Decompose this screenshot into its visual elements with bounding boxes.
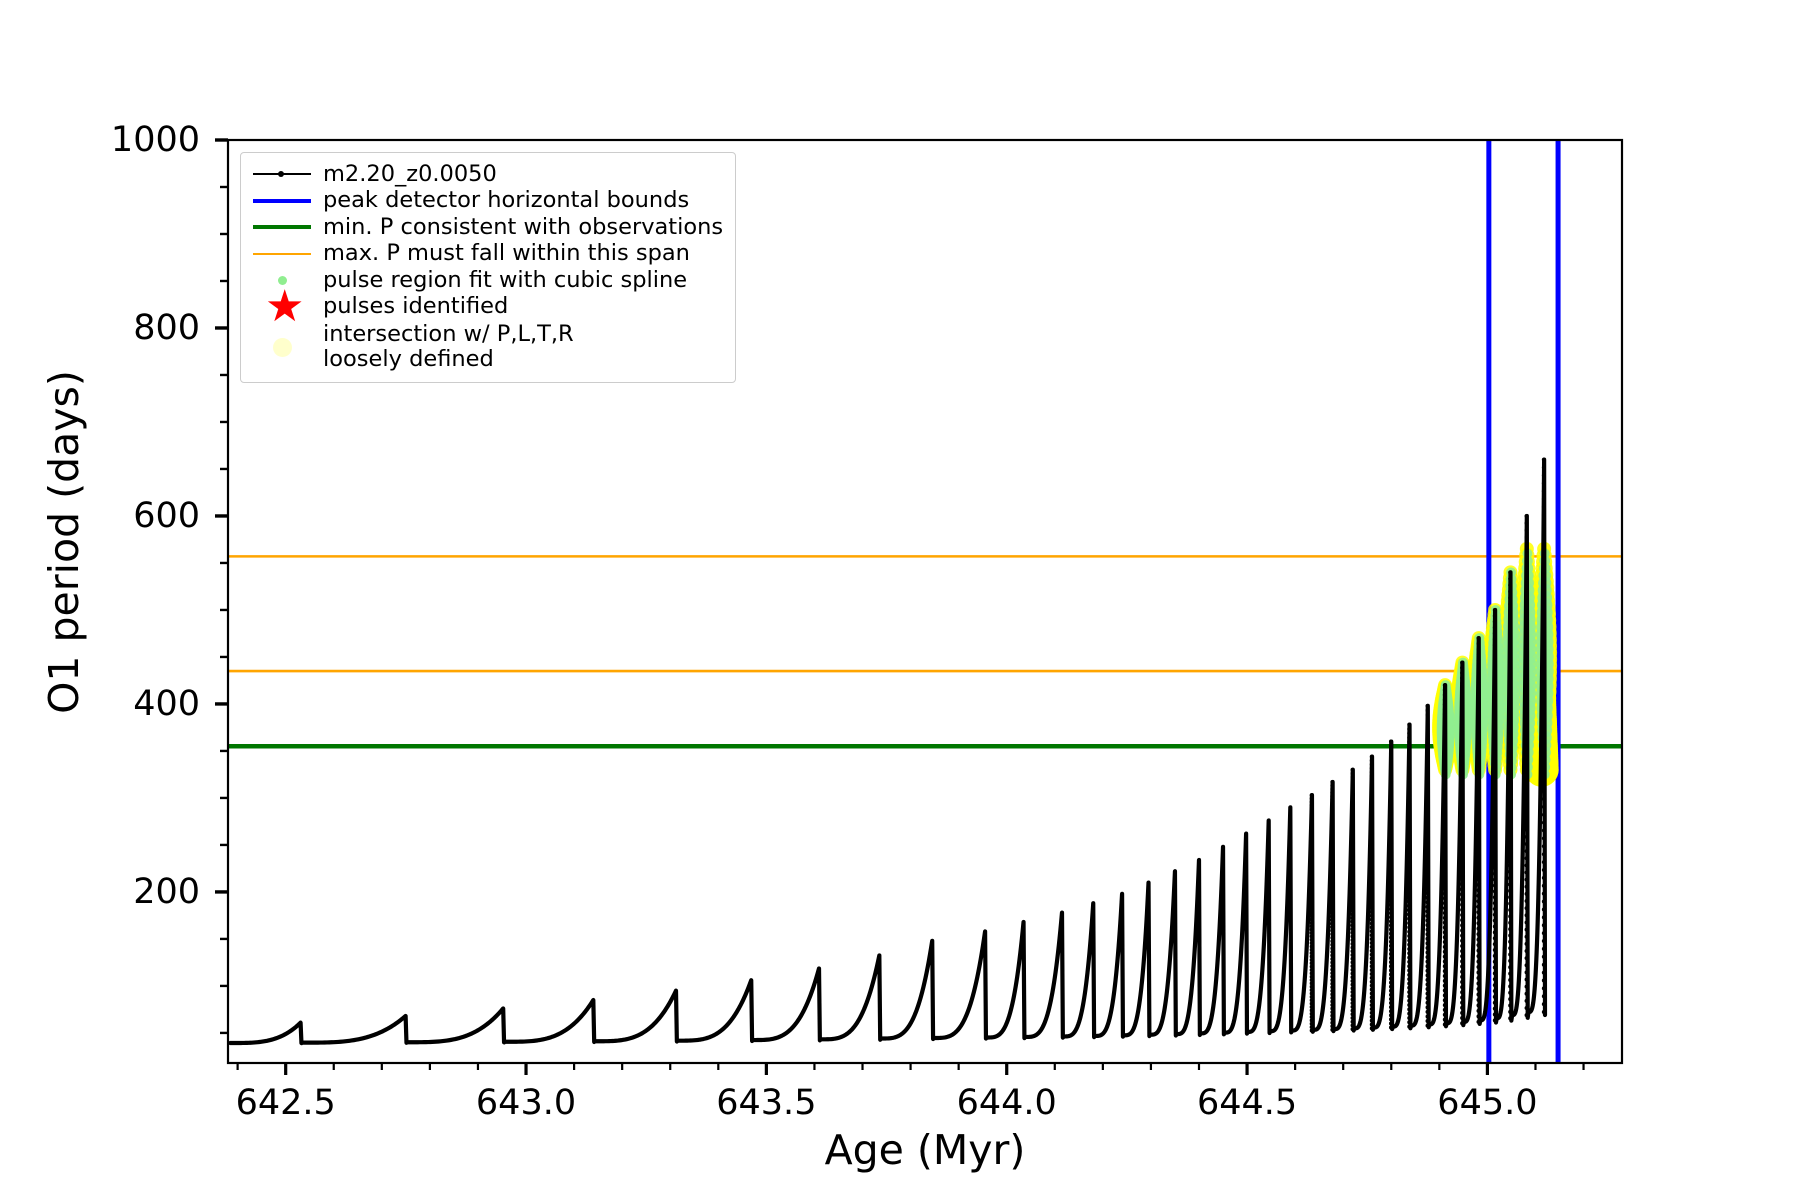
legend-label: pulses identified [323, 294, 508, 319]
legend-key-line-orange [251, 241, 313, 267]
legend-entry: pulse region fit with cubic spline [251, 267, 723, 294]
legend-key-dot-paleyellow [251, 334, 313, 360]
legend-label: peak detector horizontal bounds [323, 188, 689, 213]
legend-label: m2.20_z0.0050 [323, 162, 497, 187]
legend-key-line-green [251, 214, 313, 240]
legend-entry: max. P must fall within this span [251, 241, 723, 268]
legend-box: m2.20_z0.0050peak detector horizontal bo… [240, 152, 736, 383]
legend-entry: m2.20_z0.0050 [251, 161, 723, 188]
legend-label-line2: loosely defined [323, 347, 574, 372]
legend-label: max. P must fall within this span [323, 241, 690, 266]
legend-entry: ★pulses identified [251, 294, 723, 321]
legend-entry: peak detector horizontal bounds [251, 188, 723, 215]
figure-canvas: O1 period (days) Age (Myr) 642.5643.0643… [0, 0, 1800, 1200]
legend-label: min. P consistent with observations [323, 215, 723, 240]
legend-entry: intersection w/ P,L,T,Rloosely defined [251, 320, 723, 373]
legend-label: pulse region fit with cubic spline [323, 268, 687, 293]
legend-label: intersection w/ P,L,T,R [323, 322, 574, 347]
legend-key-line-dot-black [251, 161, 313, 187]
legend-key-line-blue [251, 188, 313, 214]
legend-entry: min. P consistent with observations [251, 214, 723, 241]
legend-key-star-red: ★ [251, 294, 313, 320]
